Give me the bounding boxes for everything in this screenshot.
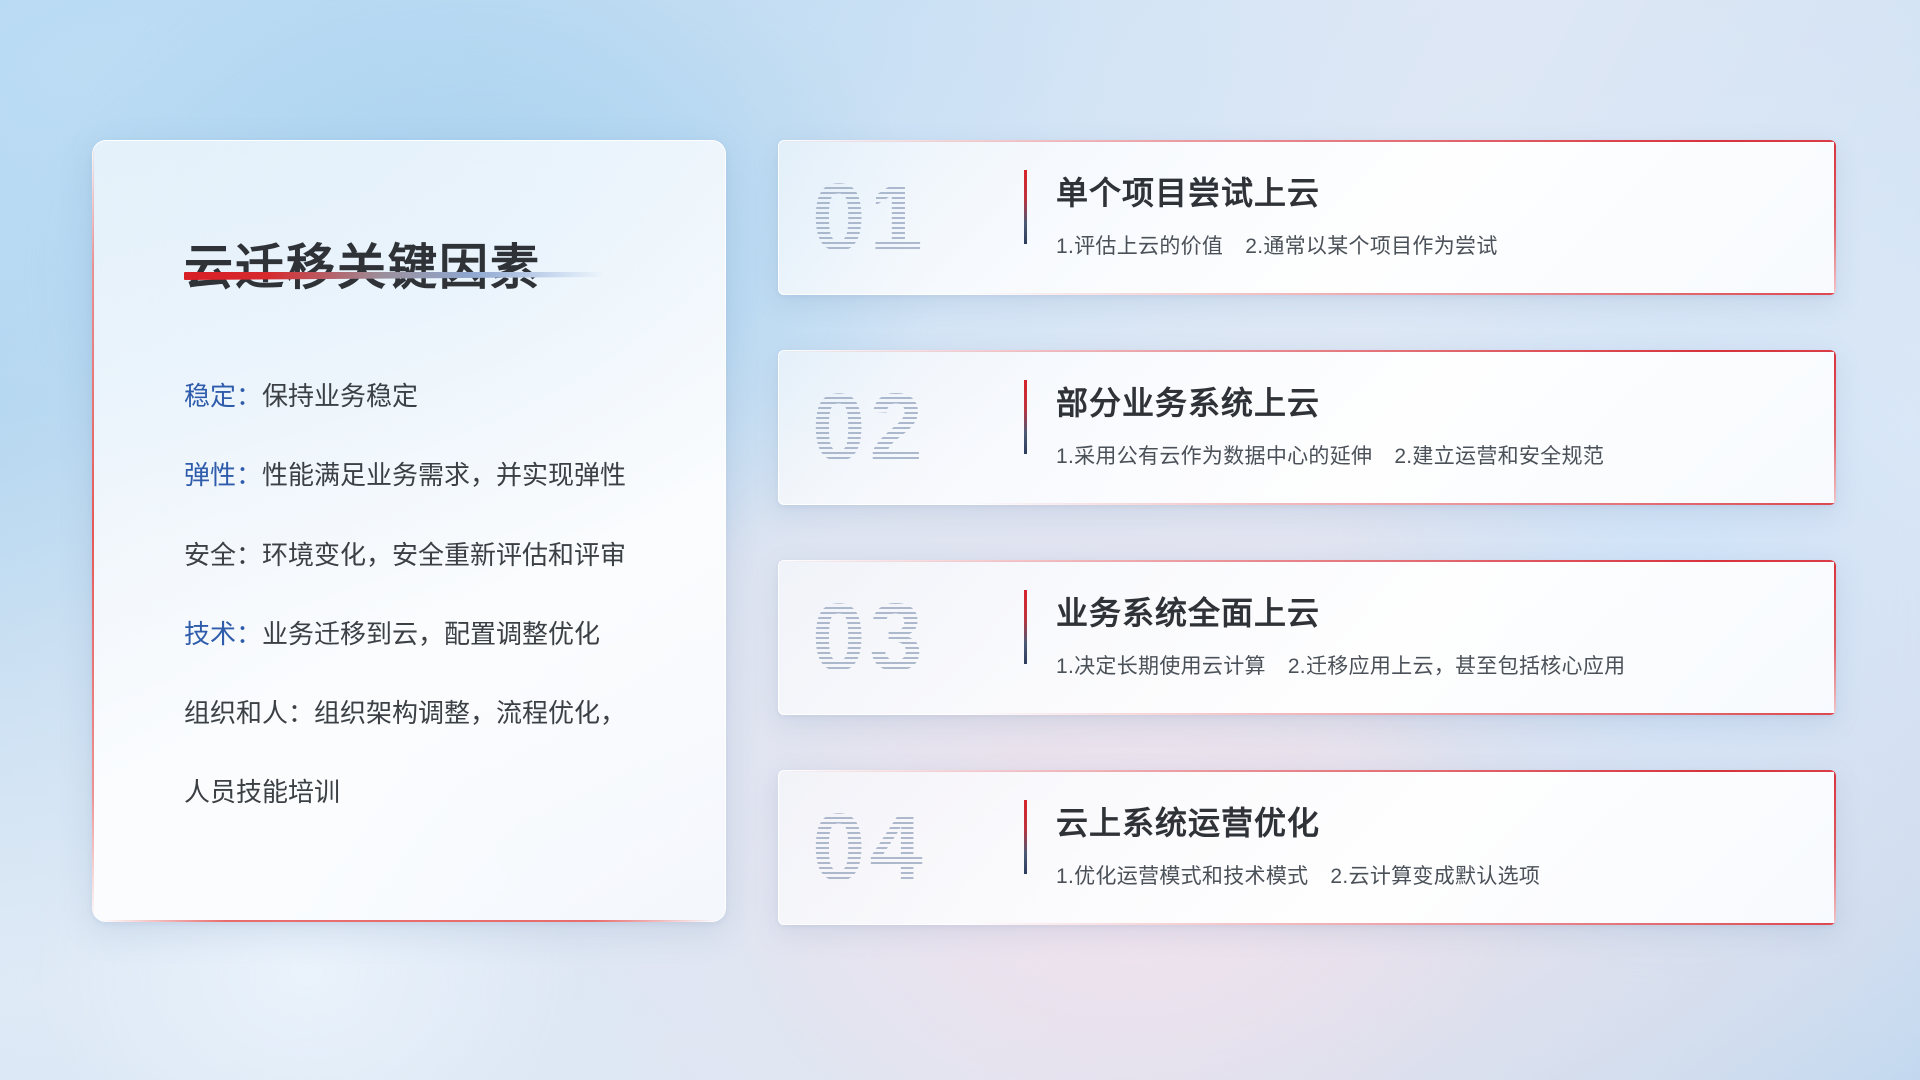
step-point-2: 2.建立运营和安全规范: [1394, 445, 1604, 468]
step-subtitle: 1.决定长期使用云计算2.迁移应用上云，甚至包括核心应用: [1056, 650, 1625, 680]
step-point-2: 2.通常以某个项目作为尝试: [1245, 235, 1497, 258]
factor-text: 性能满足业务需求，并实现弹性: [262, 460, 626, 490]
step-subtitle: 1.采用公有云作为数据中心的延伸2.建立运营和安全规范: [1056, 440, 1604, 470]
card-bottom-accent-line: [968, 713, 1836, 715]
step-number-watermark: 03: [812, 582, 1002, 694]
card-right-accent-line: [1834, 140, 1836, 295]
card-bottom-accent-line: [968, 293, 1836, 295]
factor-text-line2: 人员技能培训: [184, 776, 682, 809]
factor-text: 业务迁移到云，配置调整优化: [262, 619, 600, 649]
step-card-01[interactable]: 01 单个项目尝试上云 1.评估上云的价值2.通常以某个项目作为尝试: [778, 140, 1836, 295]
factor-label: 弹性：: [184, 460, 262, 490]
step-title: 云上系统运营优化: [1056, 798, 1320, 844]
factor-label: 安全：: [184, 540, 262, 570]
step-card-04[interactable]: 04 云上系统运营优化 1.优化运营模式和技术模式2.云计算变成默认选项: [778, 770, 1836, 925]
card-top-accent-line: [778, 140, 1836, 142]
factor-item-elasticity: 弹性：性能满足业务需求，并实现弹性: [184, 459, 682, 492]
factor-item-technology: 技术：业务迁移到云，配置调整优化: [184, 618, 682, 651]
card-bottom-accent-edge: [102, 920, 716, 922]
card-right-accent-line: [1834, 770, 1836, 925]
step-number-watermark: 01: [812, 162, 1002, 274]
step-title: 部分业务系统上云: [1056, 378, 1320, 424]
step-point-1: 1.优化运营模式和技术模式: [1056, 865, 1308, 888]
factor-label: 稳定：: [184, 381, 262, 411]
factor-label: 技术：: [184, 619, 262, 649]
factor-item-organization-people: 组织和人：组织架构调整，流程优化， 人员技能培训: [184, 697, 682, 810]
card-bottom-accent-line: [968, 503, 1836, 505]
step-point-2: 2.云计算变成默认选项: [1330, 865, 1540, 888]
key-factors-card: 云迁移关键因素 稳定：保持业务稳定 弹性：性能满足业务需求，并实现弹性 安全：环…: [92, 140, 726, 922]
card-top-accent-line: [778, 770, 1836, 772]
factor-text: 环境变化，安全重新评估和评审: [262, 540, 626, 570]
step-point-1: 1.采用公有云作为数据中心的延伸: [1056, 445, 1372, 468]
step-card-02[interactable]: 02 部分业务系统上云 1.采用公有云作为数据中心的延伸2.建立运营和安全规范: [778, 350, 1836, 505]
card-top-accent-line: [778, 560, 1836, 562]
slide-stage: 云迁移关键因素 稳定：保持业务稳定 弹性：性能满足业务需求，并实现弹性 安全：环…: [0, 0, 1920, 1080]
step-number-watermark: 04: [812, 792, 1002, 904]
factor-label: 组织和人：: [184, 698, 314, 728]
page-title: 云迁移关键因素: [184, 228, 541, 299]
step-divider-bar: [1024, 800, 1027, 874]
step-subtitle: 1.评估上云的价值2.通常以某个项目作为尝试: [1056, 230, 1498, 260]
step-divider-bar: [1024, 170, 1027, 244]
step-number-watermark: 02: [812, 372, 1002, 484]
factor-item-security: 安全：环境变化，安全重新评估和评审: [184, 539, 682, 572]
step-point-1: 1.决定长期使用云计算: [1056, 655, 1266, 678]
factor-list: 稳定：保持业务稳定 弹性：性能满足业务需求，并实现弹性 安全：环境变化，安全重新…: [184, 380, 682, 856]
step-title: 业务系统全面上云: [1056, 588, 1320, 634]
step-point-2: 2.迁移应用上云，甚至包括核心应用: [1288, 655, 1626, 678]
step-point-1: 1.评估上云的价值: [1056, 235, 1223, 258]
factor-item-stability: 稳定：保持业务稳定: [184, 380, 682, 413]
factor-text: 组织架构调整，流程优化，: [314, 698, 626, 728]
factor-text: 保持业务稳定: [262, 381, 418, 411]
card-bottom-accent-line: [968, 923, 1836, 925]
step-title: 单个项目尝试上云: [1056, 168, 1320, 214]
step-card-03[interactable]: 03 业务系统全面上云 1.决定长期使用云计算2.迁移应用上云，甚至包括核心应用: [778, 560, 1836, 715]
card-right-accent-line: [1834, 560, 1836, 715]
card-left-accent-edge: [92, 140, 94, 922]
step-subtitle: 1.优化运营模式和技术模式2.云计算变成默认选项: [1056, 860, 1540, 890]
step-divider-bar: [1024, 590, 1027, 664]
step-divider-bar: [1024, 380, 1027, 454]
card-top-accent-line: [778, 350, 1836, 352]
card-right-accent-line: [1834, 350, 1836, 505]
